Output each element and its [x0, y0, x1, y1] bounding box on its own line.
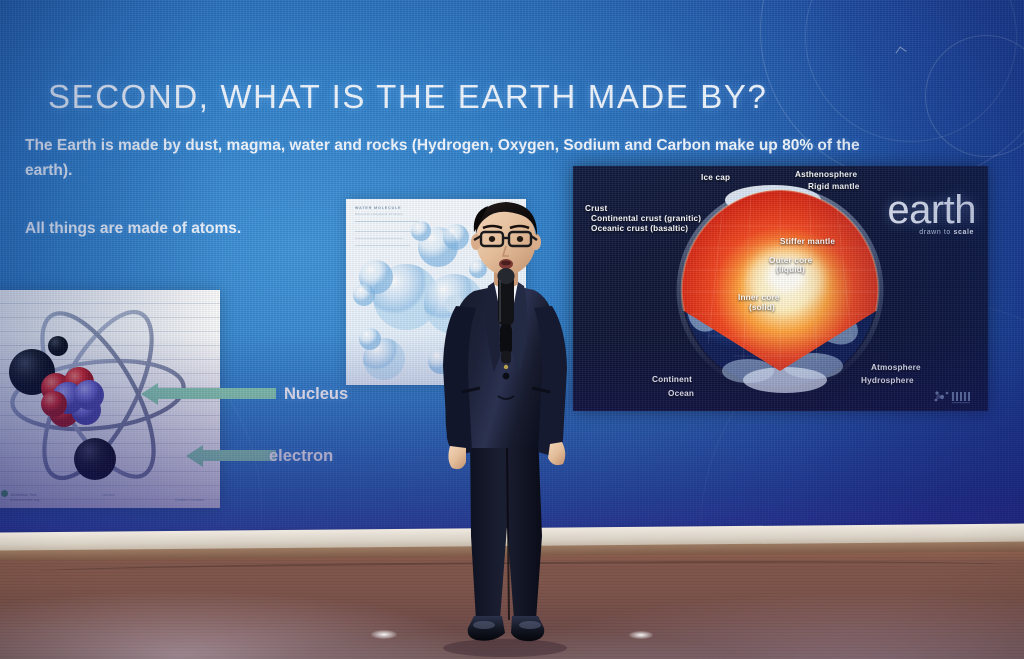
nucleus-arrow-head-icon: [141, 383, 158, 405]
decorative-tick-icon: [895, 46, 906, 57]
earth-label-continental-crust: Continental crust (granitic): [591, 214, 701, 224]
right-hand: [548, 442, 565, 465]
earth-label-ice-cap: Ice cap: [701, 173, 730, 183]
trousers: [470, 432, 542, 620]
floor-light-spot: [371, 630, 397, 639]
earth-label-asthenosphere: Asthenosphere: [795, 170, 857, 180]
earth-label-atmosphere: Atmosphere: [871, 363, 921, 373]
earth-label-oceanic-crust: Oceanic crust (basaltic): [591, 224, 688, 234]
decorative-ring-icon: [925, 35, 1024, 157]
electron-sphere: [74, 438, 116, 480]
atom-credit: Attribution Text Sciencenotes.org: [1, 490, 39, 503]
publisher-watermark-icon: [932, 389, 978, 405]
nucleus-cluster: [41, 367, 104, 427]
water-card-heading: WATER MOLECULE: [355, 206, 401, 210]
earth-label-inner-core-state: (solid): [749, 303, 775, 313]
leaf-logo-icon: [1, 490, 8, 497]
divider: [355, 221, 419, 222]
atom-illustration: [0, 290, 220, 508]
atom-credit-right: Creative Commons: [175, 498, 204, 503]
electron-sphere: [48, 336, 68, 356]
earth-label-ocean: Ocean: [668, 389, 694, 399]
slide-subtitle-text: All things are made of atoms.: [25, 220, 241, 238]
student-presenter: [414, 196, 596, 659]
earth-label-stiffer-mantle: Stiffer mantle: [780, 237, 835, 247]
earth-wordmark: earth: [887, 188, 976, 233]
electron-label: electron: [269, 447, 333, 466]
left-hand: [448, 446, 466, 469]
earth-wordmark-sub: drawn to scale: [919, 229, 974, 236]
electron-arrow-shaft: [203, 450, 276, 461]
floor-light-spot: [629, 631, 653, 639]
earth-label-rigid-mantle: Rigid mantle: [808, 182, 860, 192]
stage-photo: SECOND, WHAT IS THE EARTH MADE BY? The E…: [0, 0, 1024, 659]
decorative-ring-icon: [805, 0, 1017, 142]
water-card-subheading: Chemical compound structure: [355, 212, 403, 216]
earth-label-outer-core-state: (liquid): [776, 265, 805, 275]
earth-label-continent: Continent: [652, 375, 692, 385]
atom-credit-middle: Licensed: [102, 493, 115, 497]
atom-diagram-card: Attribution Text Sciencenotes.org Licens…: [0, 290, 220, 508]
earth-label-hydrosphere: Hydrosphere: [861, 376, 914, 386]
nucleus-label: Nucleus: [284, 385, 348, 404]
nucleus-arrow-shaft: [158, 388, 276, 399]
earth-label-inner-core: Inner core: [738, 293, 780, 303]
slide-title: SECOND, WHAT IS THE EARTH MADE BY?: [48, 78, 767, 116]
earth-diagram-panel: Ice cap Asthenosphere Rigid mantle Crust…: [573, 166, 988, 411]
electron-arrow-head-icon: [186, 445, 203, 467]
